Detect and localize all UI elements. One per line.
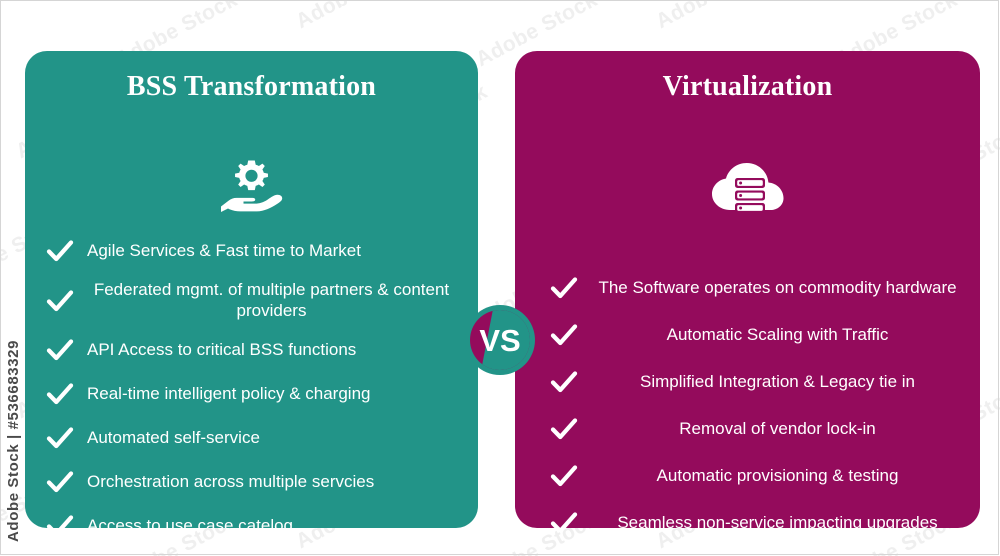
- check-icon: [45, 511, 75, 528]
- check-icon: [549, 414, 579, 444]
- check-icon: [549, 273, 579, 303]
- check-icon: [45, 286, 75, 316]
- check-icon: [549, 367, 579, 397]
- bullet-item: Simplified Integration & Legacy tie in: [515, 367, 980, 397]
- bullet-text: Federated mgmt. of multiple partners & c…: [87, 280, 464, 321]
- bullet-text: Agile Services & Fast time to Market: [87, 241, 464, 262]
- bullet-text: Simplified Integration & Legacy tie in: [591, 372, 964, 393]
- bullet-list-bss: Agile Services & Fast time to MarketFede…: [25, 236, 478, 528]
- bullet-text: Access to use case catelog: [87, 516, 464, 528]
- panel-bss-transformation: BSS Transformation Agile Services & Fast…: [25, 51, 478, 528]
- infographic-canvas: Adobe StockAdobe StockAdobe StockAdobe S…: [0, 0, 1000, 556]
- bullet-item: Automatic provisioning & testing: [515, 461, 980, 491]
- check-icon: [45, 467, 75, 497]
- cloud-server-icon: [515, 156, 980, 218]
- panel-virtualization: Virtualization: [515, 51, 980, 528]
- bullet-item: Access to use case catelog: [25, 511, 478, 528]
- vs-badge-label: VS: [479, 323, 520, 358]
- check-icon: [45, 335, 75, 365]
- watermark-text: Adobe Stock: [292, 0, 421, 34]
- vs-badge: VS: [464, 304, 536, 376]
- bullet-item: Automated self-service: [25, 423, 478, 453]
- panel-title-virtualization: Virtualization: [515, 71, 980, 103]
- panel-title-bss: BSS Transformation: [25, 71, 478, 103]
- watermark-text: Adobe Stock: [652, 0, 781, 34]
- bullet-text: Seamless non-service impacting upgrades: [591, 513, 964, 528]
- bullet-item: Agile Services & Fast time to Market: [25, 236, 478, 266]
- check-icon: [549, 320, 579, 350]
- bullet-text: Automatic Scaling with Traffic: [591, 325, 964, 346]
- stock-credit-text: Adobe Stock | #536683329: [5, 212, 22, 542]
- check-icon: [45, 379, 75, 409]
- bullet-item: Orchestration across multiple servcies: [25, 467, 478, 497]
- check-icon: [45, 423, 75, 453]
- bullet-text: Automatic provisioning & testing: [591, 466, 964, 487]
- bullet-item: Removal of vendor lock-in: [515, 414, 980, 444]
- bullet-item: Seamless non-service impacting upgrades: [515, 508, 980, 528]
- bullet-text: Orchestration across multiple servcies: [87, 472, 464, 493]
- check-icon: [45, 236, 75, 266]
- watermark-text: Adobe Stock: [0, 0, 72, 34]
- bullet-item: Federated mgmt. of multiple partners & c…: [25, 280, 478, 321]
- watermark-text: Adobe Stock: [652, 0, 781, 34]
- bullet-text: Real-time intelligent policy & charging: [87, 384, 464, 405]
- check-icon: [549, 461, 579, 491]
- gear-in-hand-icon: [25, 156, 478, 218]
- bullet-item: Automatic Scaling with Traffic: [515, 320, 980, 350]
- bullet-list-virtualization: The Software operates on commodity hardw…: [515, 273, 980, 528]
- bullet-text: Removal of vendor lock-in: [591, 419, 964, 440]
- bullet-text: API Access to critical BSS functions: [87, 340, 464, 361]
- bullet-item: Real-time intelligent policy & charging: [25, 379, 478, 409]
- check-icon: [549, 508, 579, 528]
- bullet-text: Automated self-service: [87, 428, 464, 449]
- bullet-item: API Access to critical BSS functions: [25, 335, 478, 365]
- watermark-text: Adobe Stock: [0, 0, 72, 34]
- bullet-text: The Software operates on commodity hardw…: [591, 278, 964, 299]
- bullet-item: The Software operates on commodity hardw…: [515, 273, 980, 303]
- watermark-text: Adobe Stock: [292, 0, 421, 34]
